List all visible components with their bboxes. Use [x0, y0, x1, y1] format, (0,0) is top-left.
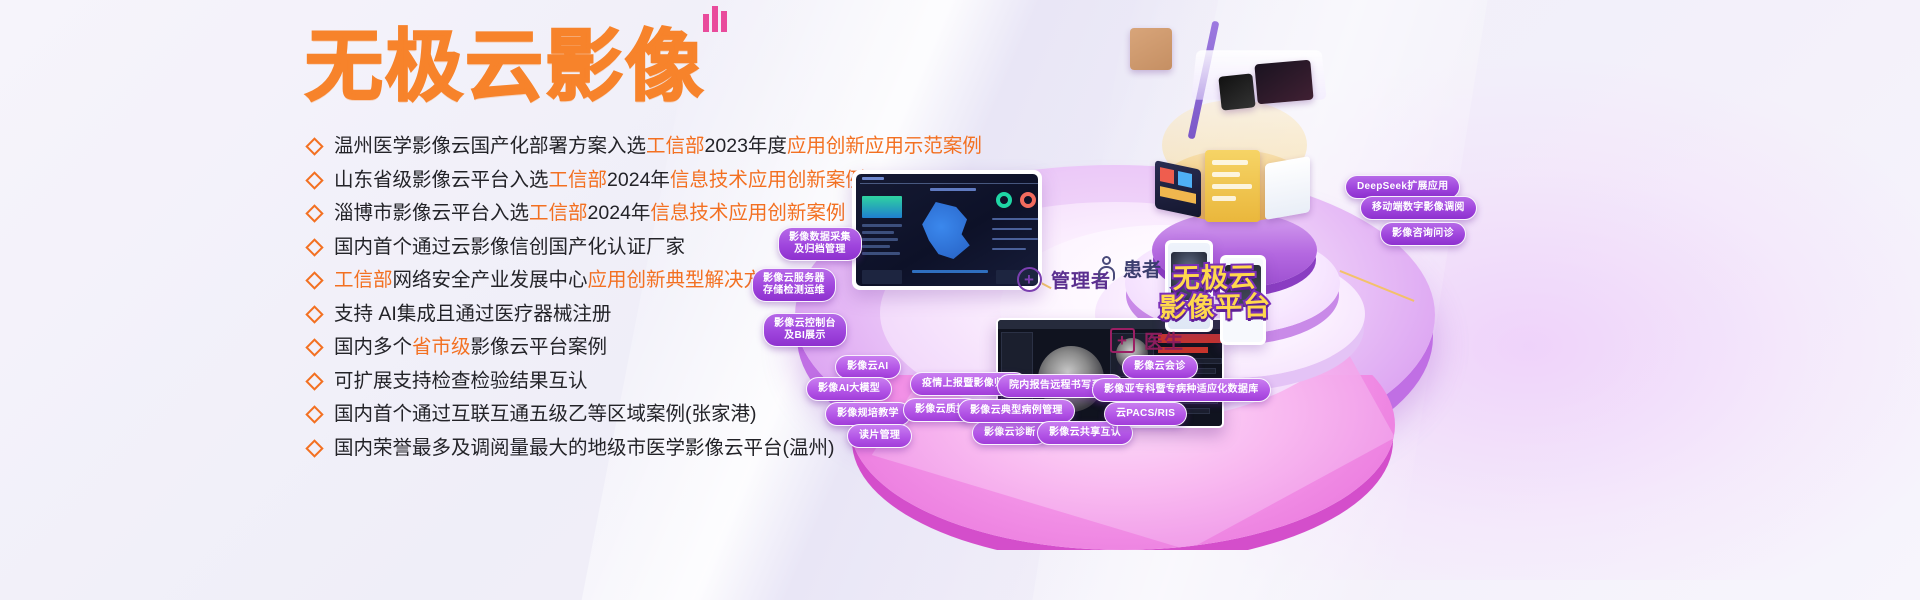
pill-label-line: 影像云服务器 — [763, 273, 825, 285]
thumbnail-yellow-panel — [1205, 150, 1260, 222]
bullet-text-segment: 2024年 — [588, 202, 651, 224]
role-label-doctor: + 医生 — [1110, 327, 1184, 354]
pill-label-line: 影像云会诊 — [1134, 361, 1186, 373]
diamond-bullet-icon — [305, 137, 323, 155]
thumbnail-ultrasound — [1218, 73, 1255, 110]
pill-label-line: 存储检测运维 — [763, 285, 825, 297]
center-brand-line-2: 影像平台 — [1120, 292, 1310, 324]
pill-image-cloud-ai[interactable]: 影像云AI — [835, 355, 901, 379]
person-icon — [1098, 256, 1115, 281]
bullet-text-segment: 网络安全产业发展中心 — [393, 269, 588, 291]
diamond-bullet-icon — [305, 305, 323, 323]
pill-label-line: 影像云共享互认 — [1049, 427, 1121, 439]
pill-label-line: 影像AI大模型 — [818, 383, 880, 395]
bullet-text-segment: 国内首个通过互联互通五级乙等区域案例(张家港) — [334, 403, 757, 425]
medical-record-icon: + — [1110, 328, 1135, 353]
diamond-bullet-icon — [305, 372, 323, 390]
bullet-text: 支持 AI集成且通过医疗器械注册 — [334, 298, 611, 332]
bullet-text-segment: 淄博市影像云平台入选 — [334, 202, 529, 224]
bullet-text: 国内多个省市级影像云平台案例 — [334, 331, 607, 365]
bullet-text-segment: 温州医学影像云国产化部署方案入选 — [334, 135, 646, 157]
pill-cloud-pacs-ris[interactable]: 云PACS/RIS — [1104, 402, 1187, 426]
diamond-bullet-icon — [305, 439, 323, 457]
bar-chart-icon — [700, 0, 734, 32]
diamond-bullet-icon — [305, 238, 323, 256]
pill-label-line: 读片管理 — [859, 430, 900, 442]
pill-label-line: 影像亚专科暨专病种适应化数据库 — [1104, 384, 1259, 396]
pill-console-bi[interactable]: 影像云控制台及BI展示 — [763, 313, 847, 347]
pill-label-line: 影像云典型病例管理 — [970, 405, 1063, 417]
bullet-text-segment: 工信部 — [334, 269, 393, 291]
thumbnail-scan-strip — [1254, 60, 1313, 105]
pill-label-line: DeepSeek扩展应用 — [1357, 181, 1448, 193]
pill-mobile-image-access[interactable]: 移动端数字影像调阅 — [1360, 196, 1477, 220]
pill-image-data-capture[interactable]: 影像数据采集及归档管理 — [778, 227, 862, 261]
pill-cloud-server-storage[interactable]: 影像云服务器存储检测运维 — [752, 268, 836, 302]
bullet-text: 国内首个通过互联互通五级乙等区域案例(张家港) — [334, 398, 757, 432]
thumbnail-white-panel — [1265, 156, 1310, 220]
pill-label-line: 影像数据采集 — [789, 232, 851, 244]
pill-subspecialty-database[interactable]: 影像亚专科暨专病种适应化数据库 — [1092, 378, 1271, 402]
platform-illustration: 无极云 影像平台 + 管理者 + 医生 患者 影像数据采集及归档管理 影像云服务… — [700, 0, 1920, 600]
pill-label-line: 影像咨询问诊 — [1392, 228, 1454, 240]
pill-label-line: 及BI展示 — [774, 330, 836, 342]
diamond-bullet-icon — [305, 171, 323, 189]
bullet-text-segment: 工信部 — [549, 169, 608, 191]
bullet-text-segment: 国内多个 — [334, 336, 412, 358]
role-doctor-text: 医生 — [1144, 327, 1184, 354]
bullet-text-segment: 工信部 — [646, 135, 705, 157]
bullet-text-segment: 支持 AI集成且通过医疗器械注册 — [334, 303, 611, 325]
role-label-patient: 患者 — [1098, 255, 1161, 282]
role-label-admin: + 管理者 — [1017, 266, 1111, 293]
diamond-bullet-icon — [305, 204, 323, 222]
pill-training-education[interactable]: 影像规培教学 — [825, 402, 911, 426]
bullet-text-segment: 山东省级影像云平台入选 — [334, 169, 549, 191]
analytics-dashboard-mockup — [852, 170, 1042, 290]
dashboard-screen — [856, 174, 1038, 286]
bullet-text-segment: 可扩展支持检查检验结果互认 — [334, 370, 588, 392]
pill-image-consultation[interactable]: 影像咨询问诊 — [1380, 222, 1466, 246]
diamond-bullet-icon — [305, 338, 323, 356]
bullet-text-segment: 国内首个通过云影像信创国产化认证厂家 — [334, 236, 685, 258]
diamond-bullet-icon — [305, 271, 323, 289]
pill-label-line: 影像云控制台 — [774, 318, 836, 330]
bullet-text: 国内首个通过云影像信创国产化认证厂家 — [334, 231, 685, 265]
plus-circle-icon: + — [1017, 267, 1042, 292]
pill-label-line: 影像云AI — [847, 361, 889, 373]
bullet-text-segment: 省市级 — [412, 336, 471, 358]
role-patient-text: 患者 — [1123, 255, 1161, 282]
pill-label-line: 云PACS/RIS — [1116, 408, 1175, 420]
bullet-text-segment: 影像云平台案例 — [471, 336, 608, 358]
thumbnail-tile-tan — [1130, 28, 1172, 70]
pill-label-line: 影像规培教学 — [837, 408, 899, 420]
bullet-text-segment: 2024年 — [607, 169, 670, 191]
pill-label-line: 及归档管理 — [789, 244, 851, 256]
bullet-text: 可扩展支持检查检验结果互认 — [334, 365, 588, 399]
pill-cloud-consultation[interactable]: 影像云会诊 — [1122, 355, 1198, 379]
page-title: 无极云影像 — [305, 28, 705, 106]
pill-label-line: 移动端数字影像调阅 — [1372, 202, 1465, 214]
pill-ai-large-model[interactable]: 影像AI大模型 — [806, 377, 892, 401]
pill-typical-case-management[interactable]: 影像云典型病例管理 — [958, 399, 1075, 423]
bullet-text-segment: 工信部 — [529, 202, 588, 224]
diamond-bullet-icon — [305, 405, 323, 423]
pill-label-line: 影像云诊断 — [984, 427, 1036, 439]
pill-reading-management[interactable]: 读片管理 — [847, 424, 912, 448]
